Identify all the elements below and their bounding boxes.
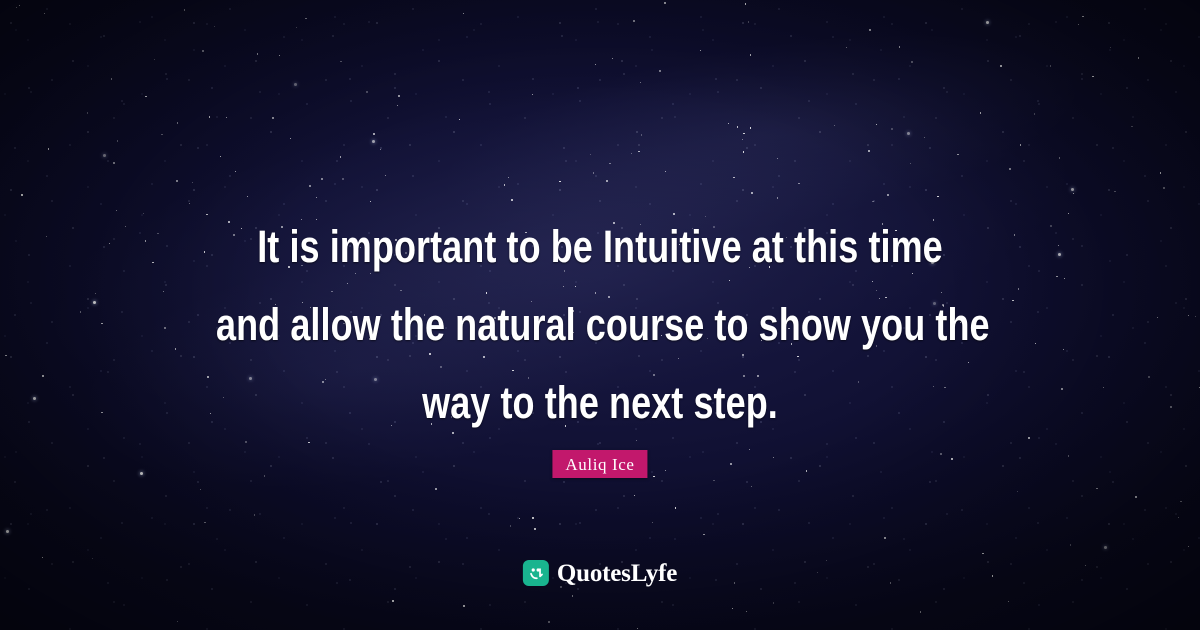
author-name: Auliq Ice (565, 456, 634, 473)
quote-smiley-icon (523, 560, 549, 586)
quote-line-2: and allow the natural course to show you… (216, 286, 984, 364)
brand-name: QuotesLyfe (557, 561, 677, 586)
brand-logo[interactable]: QuotesLyfe (523, 560, 677, 586)
card-content: It is important to be Intuitive at this … (0, 0, 1200, 630)
quote-text: It is important to be Intuitive at this … (0, 208, 1200, 442)
quote-card: It is important to be Intuitive at this … (0, 0, 1200, 630)
quote-line-3: way to the next step. (216, 364, 984, 442)
author-badge[interactable]: Auliq Ice (552, 450, 647, 478)
quote-line-1: It is important to be Intuitive at this … (216, 208, 984, 286)
